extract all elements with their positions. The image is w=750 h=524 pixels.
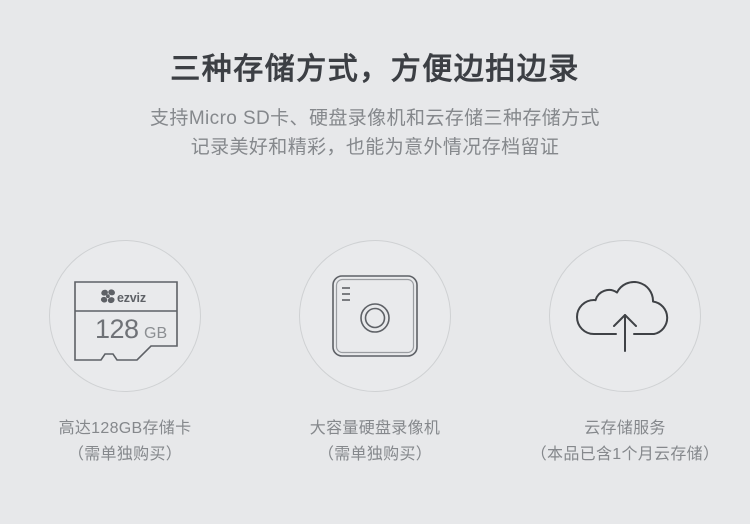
ezviz-logo-mark xyxy=(100,289,116,304)
feature-item-cloud: 云存储服务 （本品已含1个月云存储） xyxy=(500,240,750,467)
feature-caption-line-1: 大容量硬盘录像机 xyxy=(310,416,440,442)
nvr-indicator-lines xyxy=(342,288,350,300)
page-title: 三种存储方式，方便边拍边录 xyxy=(0,52,750,88)
subtitle-line-2: 记录美好和精彩，也能为意外情况存档留证 xyxy=(0,133,750,162)
feature-caption-line-1: 云存储服务 xyxy=(531,416,720,442)
sd-card-brand-label: ezviz xyxy=(117,291,146,305)
page-subtitle: 支持Micro SD卡、硬盘录像机和云存储三种存储方式 记录美好和精彩，也能为意… xyxy=(0,104,750,163)
feature-caption-nvr: 大容量硬盘录像机 （需单独购买） xyxy=(310,416,440,467)
micro-sd-card-icon: ezviz 128 GB xyxy=(59,250,191,382)
feature-item-nvr: 大容量硬盘录像机 （需单独购买） xyxy=(250,240,500,467)
feature-caption-line-2: （本品已含1个月云存储） xyxy=(531,442,720,468)
feature-icon-circle-cloud xyxy=(549,240,701,392)
feature-caption-line-1: 高达128GB存储卡 xyxy=(59,416,192,442)
feature-icon-circle-nvr xyxy=(299,240,451,392)
feature-list: ezviz 128 GB 高达128GB存储卡 （需单独购买） xyxy=(0,240,750,467)
sd-card-capacity-unit: GB xyxy=(144,325,167,342)
feature-caption-sd-card: 高达128GB存储卡 （需单独购买） xyxy=(59,416,192,467)
nvr-dial xyxy=(361,304,389,332)
feature-icon-circle-sd-card: ezviz 128 GB xyxy=(49,240,201,392)
upload-arrow xyxy=(614,315,636,351)
sd-card-capacity-number: 128 xyxy=(95,314,139,344)
feature-caption-cloud: 云存储服务 （本品已含1个月云存储） xyxy=(531,416,720,467)
feature-item-sd-card: ezviz 128 GB 高达128GB存储卡 （需单独购买） xyxy=(0,240,250,467)
heading-block: 三种存储方式，方便边拍边录 支持Micro SD卡、硬盘录像机和云存储三种存储方… xyxy=(0,52,750,163)
cloud-upload-icon xyxy=(559,250,691,382)
storage-options-section: 三种存储方式，方便边拍边录 支持Micro SD卡、硬盘录像机和云存储三种存储方… xyxy=(0,0,750,524)
nvr-recorder-icon xyxy=(309,250,441,382)
subtitle-line-1: 支持Micro SD卡、硬盘录像机和云存储三种存储方式 xyxy=(0,104,750,133)
feature-caption-line-2: （需单独购买） xyxy=(59,442,192,468)
feature-caption-line-2: （需单独购买） xyxy=(310,442,440,468)
